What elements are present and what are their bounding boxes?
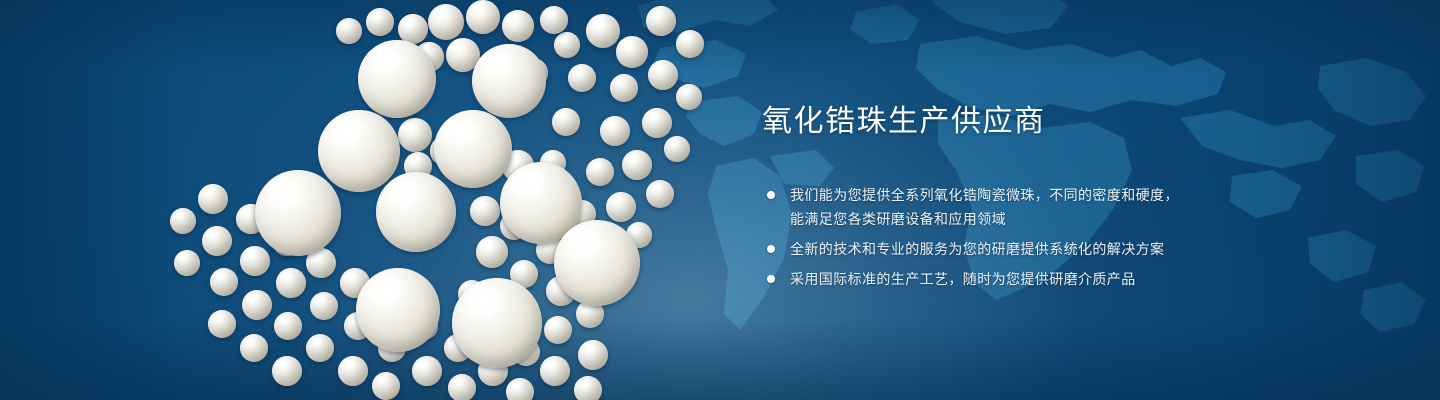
feature-list: 我们能为您提供全系列氧化锆陶瓷微珠，不同的密度和硬度， 能满足您各类研磨设备和应… xyxy=(762,183,1282,291)
feature-text-line1: 采用国际标准的生产工艺，随时为您提供研磨介质产品 xyxy=(790,271,1136,287)
page-title: 氧化锆珠生产供应商 xyxy=(762,104,1282,139)
bullet-dot-icon xyxy=(767,191,775,199)
bullet-dot-icon xyxy=(767,245,775,253)
feature-text-line2: 能满足您各类研磨设备和应用领域 xyxy=(790,207,1282,231)
bullet-dot-icon xyxy=(767,275,775,283)
feature-text-line1: 全新的技术和专业的服务为您的研磨提供系统化的解决方案 xyxy=(790,241,1164,257)
list-item: 我们能为您提供全系列氧化锆陶瓷微珠，不同的密度和硬度， 能满足您各类研磨设备和应… xyxy=(762,183,1282,231)
list-item: 全新的技术和专业的服务为您的研磨提供系统化的解决方案 xyxy=(762,237,1282,261)
list-item: 采用国际标准的生产工艺，随时为您提供研磨介质产品 xyxy=(762,267,1282,291)
hero-banner: 氧化锆珠生产供应商 我们能为您提供全系列氧化锆陶瓷微珠，不同的密度和硬度， 能满… xyxy=(0,0,1440,400)
feature-text-line1: 我们能为您提供全系列氧化锆陶瓷微珠，不同的密度和硬度， xyxy=(790,187,1179,203)
banner-text-column: 氧化锆珠生产供应商 我们能为您提供全系列氧化锆陶瓷微珠，不同的密度和硬度， 能满… xyxy=(762,104,1282,297)
